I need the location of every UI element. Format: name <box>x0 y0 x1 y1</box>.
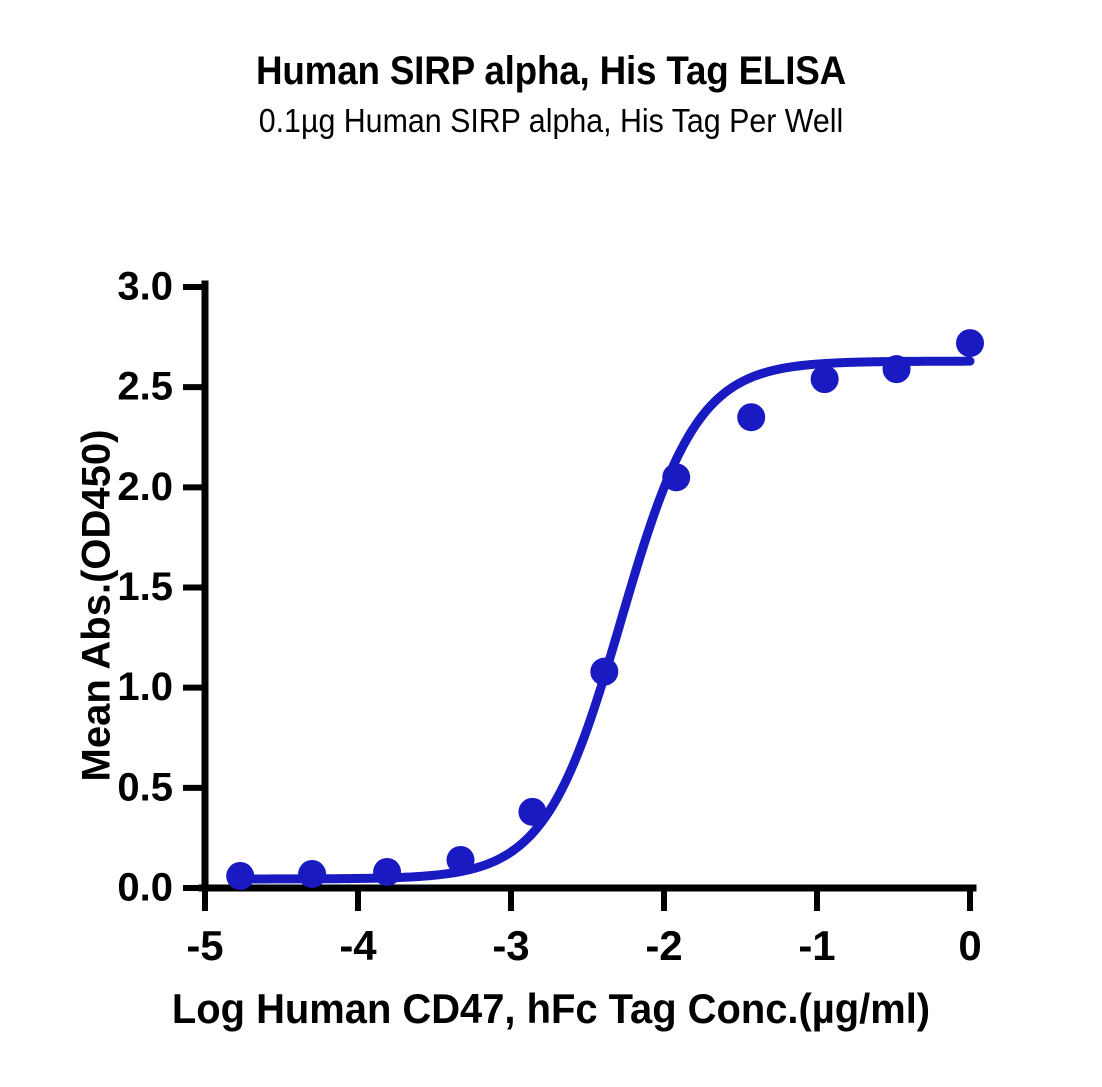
y-tick-label-2.0: 2.0 <box>117 465 173 509</box>
x-axis-title: Log Human CD47, hFc Tag Conc.(µg/ml) <box>28 985 1075 1033</box>
y-tick-label-3.0: 3.0 <box>117 265 173 309</box>
x-tick-label-0: 0 <box>958 922 981 969</box>
data-point <box>956 329 984 357</box>
data-point <box>226 862 254 890</box>
y-tick-label-0.0: 0.0 <box>117 866 173 910</box>
x-tick-label--3: -3 <box>492 922 529 969</box>
y-tick-label-2.5: 2.5 <box>117 365 173 409</box>
y-tick-label-group: 0.00.51.01.52.02.53.0 <box>117 265 173 910</box>
x-tick-label--2: -2 <box>645 922 682 969</box>
data-point <box>883 355 911 383</box>
plot-area: 0.00.51.01.52.02.53.0 -5-4-3-2-10 <box>0 0 1102 1087</box>
data-point <box>447 846 475 874</box>
data-point <box>590 658 618 686</box>
data-point <box>811 365 839 393</box>
elisa-chart-figure: Human SIRP alpha, His Tag ELISA 0.1µg Hu… <box>0 0 1102 1087</box>
data-point-group <box>226 329 984 890</box>
y-tick-label-1.5: 1.5 <box>117 565 173 609</box>
data-point <box>737 403 765 431</box>
data-point <box>298 860 326 888</box>
data-point <box>373 858 401 886</box>
x-tick-label--5: -5 <box>186 922 223 969</box>
y-tick-label-1.0: 1.0 <box>117 665 173 709</box>
y-tick-label-0.5: 0.5 <box>117 765 173 809</box>
y-axis-title: Mean Abs.(OD450) <box>75 296 120 916</box>
fit-curve <box>233 361 970 879</box>
data-point <box>662 463 690 491</box>
x-tick-label--1: -1 <box>798 922 835 969</box>
x-tick-label--4: -4 <box>339 922 377 969</box>
data-point <box>518 798 546 826</box>
x-tick-label-group: -5-4-3-2-10 <box>186 922 981 969</box>
